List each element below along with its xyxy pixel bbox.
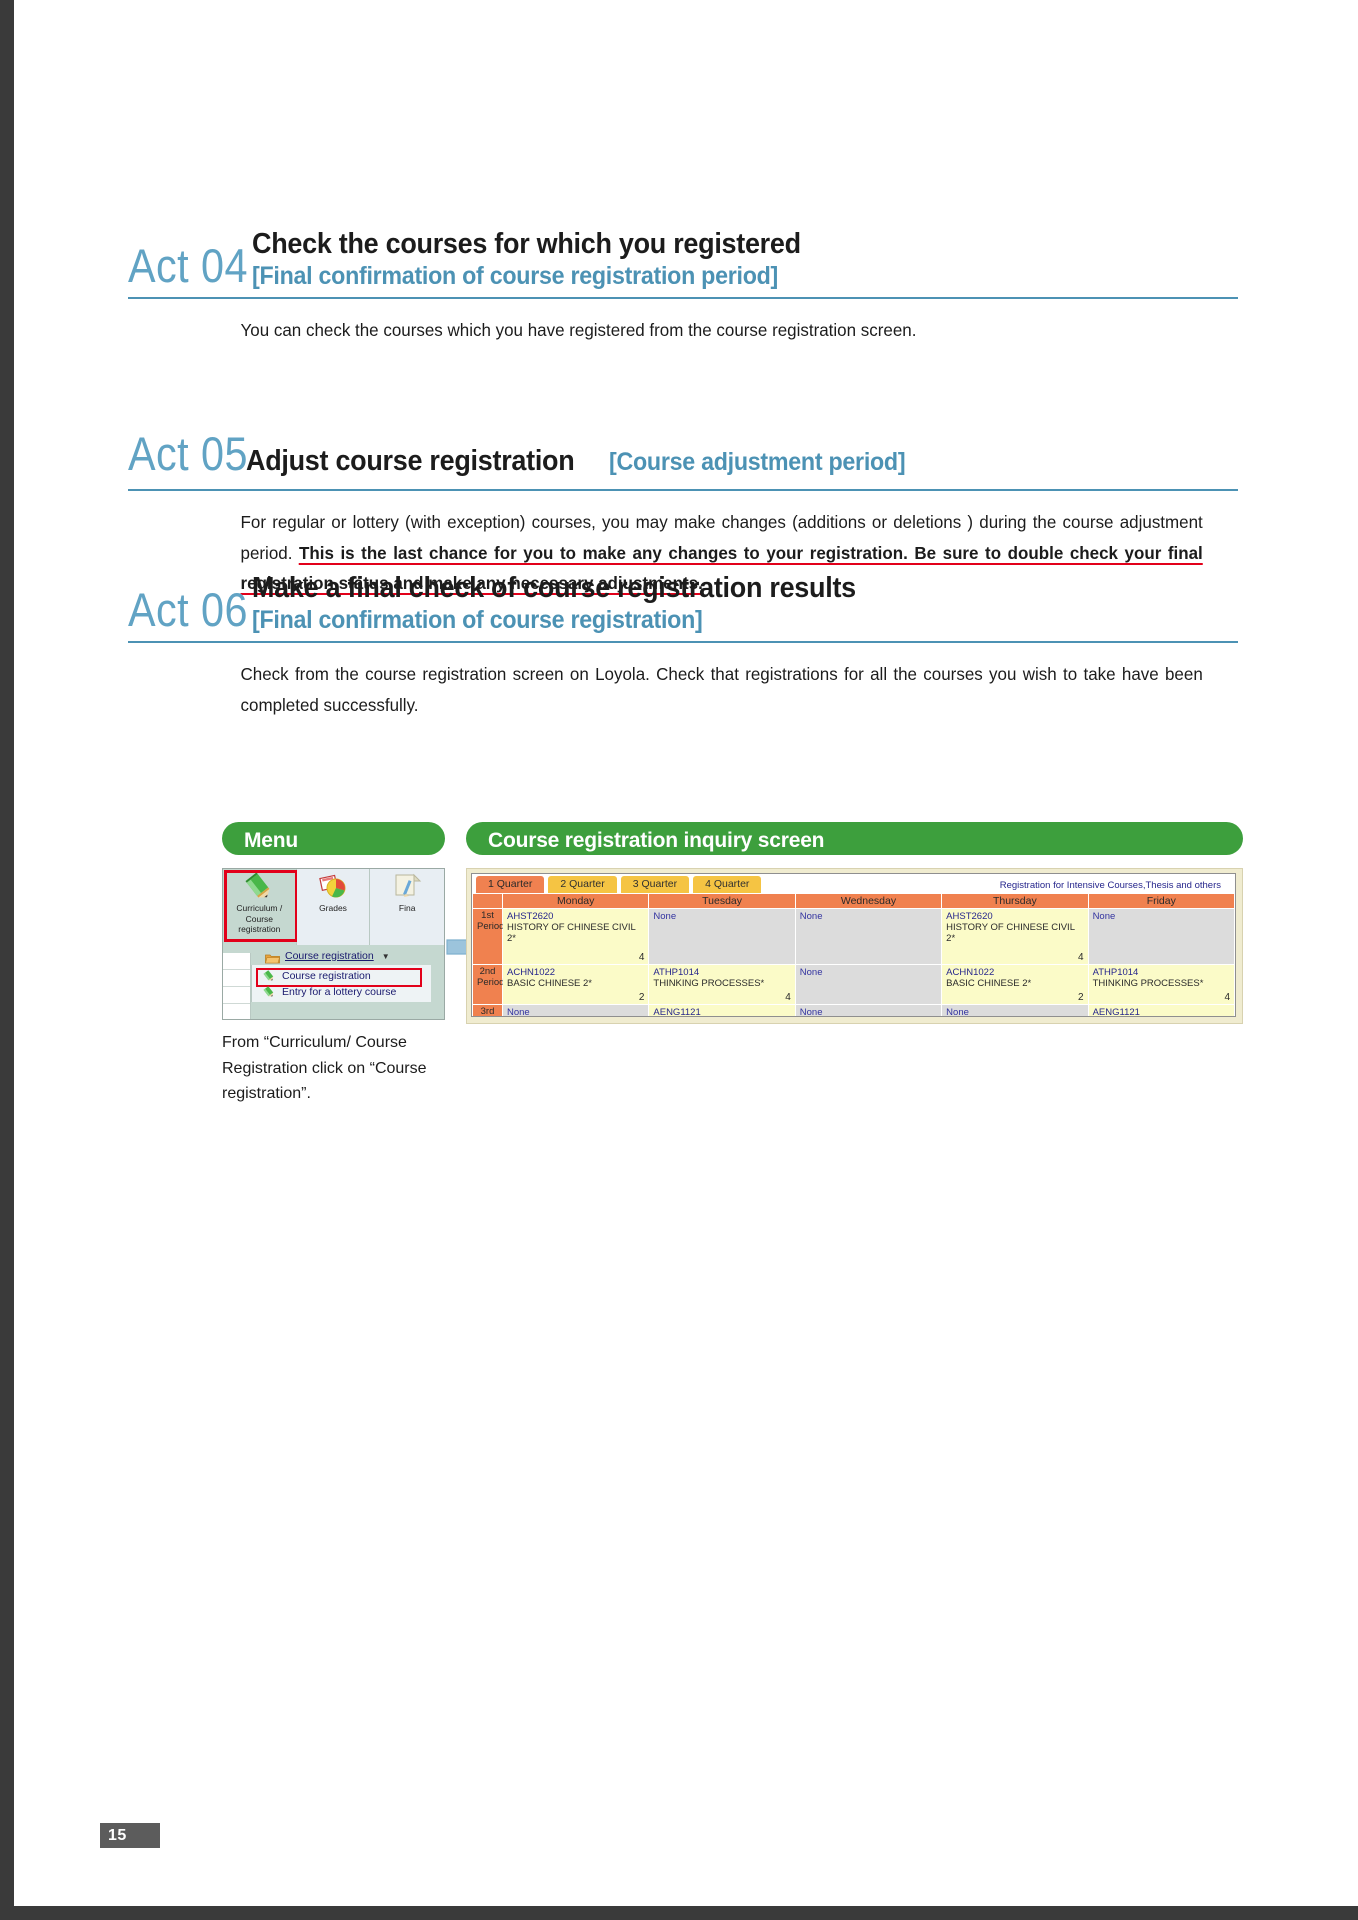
- menu-tab-grades[interactable]: Grades: [297, 869, 371, 945]
- act-04-subtitle: [Final confirmation of course registrati…: [252, 261, 1169, 291]
- course-code: None: [507, 1007, 644, 1017]
- course-code: None: [800, 967, 937, 978]
- menu-tab-label: Curriculum / Course registration: [236, 903, 282, 935]
- timetable-cell[interactable]: None: [795, 965, 941, 1005]
- course-name: BASIC CHINESE 2*: [946, 978, 1083, 989]
- act-06-label: Act 06: [128, 586, 234, 635]
- course-credits: 4: [1224, 992, 1230, 1003]
- menu-tab-strip: Curriculum / Course registration Grades: [223, 869, 444, 945]
- menu-caption: From “Curriculum/ Course Registration cl…: [222, 1030, 432, 1107]
- timetable-row: 1st Period AHST2620 HISTORY OF CHINESE C…: [473, 909, 1235, 965]
- pencil-icon: [244, 873, 274, 901]
- course-code: ATHP1014: [653, 967, 790, 978]
- timetable-cell[interactable]: ACHN1022 BASIC CHINESE 2* 2: [503, 965, 649, 1005]
- act-04-rule: [128, 297, 1238, 299]
- menu-item-course-registration[interactable]: Course registration: [252, 968, 431, 984]
- course-credits: 4: [1078, 952, 1084, 963]
- grades-icon: [318, 873, 348, 901]
- quarter-tab-4[interactable]: 4 Quarter: [693, 876, 761, 893]
- page-edge-left: [0, 0, 14, 1920]
- timetable-cell[interactable]: None: [795, 909, 941, 965]
- act-06-rule: [128, 641, 1238, 643]
- act-04-section: Act 04 Check the courses for which you r…: [128, 228, 1238, 346]
- day-header-blank: [473, 894, 503, 909]
- folder-icon: [265, 951, 280, 962]
- timetable-cell[interactable]: None: [795, 1005, 941, 1018]
- timetable-cell[interactable]: None: [1088, 909, 1234, 965]
- screen-pill-header: Course registration inquiry screen: [466, 822, 1243, 855]
- act-06-subtitle: [Final confirmation of course registrati…: [252, 605, 1169, 635]
- timetable-window: 1 Quarter 2 Quarter 3 Quarter 4 Quarter …: [471, 873, 1236, 1017]
- timetable-screenshot: 1 Quarter 2 Quarter 3 Quarter 4 Quarter …: [466, 868, 1243, 1024]
- course-code: ATHP1014: [1093, 967, 1230, 978]
- act-05-title: Adjust course registration: [246, 445, 574, 478]
- pencil-icon: [262, 986, 276, 998]
- timetable-cell[interactable]: AHST2620 HISTORY OF CHINESE CIVIL 2* 4: [942, 909, 1088, 965]
- course-code: None: [946, 1007, 1083, 1017]
- menu-tab-curriculum-course-registration[interactable]: Curriculum / Course registration: [223, 869, 297, 945]
- course-credits: 2: [1078, 992, 1084, 1003]
- timetable-cell[interactable]: None: [503, 1005, 649, 1018]
- timetable-cell[interactable]: None: [942, 1005, 1088, 1018]
- course-name: BASIC CHINESE 2*: [507, 978, 644, 989]
- timetable-row: 3rd Period None AENG1121 ENGLISH COMPOSI…: [473, 1005, 1235, 1018]
- course-name: THINKING PROCESSES*: [653, 978, 790, 989]
- act-06-body: Check from the course registration scree…: [128, 659, 1205, 720]
- act-06-heading: Act 06 Make a final check of course regi…: [128, 572, 1238, 635]
- course-name: THINKING PROCESSES*: [1093, 978, 1230, 989]
- timetable-cell[interactable]: ATHP1014 THINKING PROCESSES* 4: [1088, 965, 1234, 1005]
- course-code: ACHN1022: [946, 967, 1083, 978]
- act-04-heading: Act 04 Check the courses for which you r…: [128, 228, 1238, 291]
- act-06-section: Act 06 Make a final check of course regi…: [128, 572, 1238, 721]
- menu-item-entry-for-lottery-course[interactable]: Entry for a lottery course: [252, 984, 431, 1000]
- timetable-cell[interactable]: None: [649, 909, 795, 965]
- course-code: None: [653, 911, 790, 922]
- pencil-icon: [262, 970, 276, 982]
- course-credits: 2: [639, 992, 645, 1003]
- day-header-friday: Friday: [1088, 894, 1234, 909]
- course-credits: 4: [639, 952, 645, 963]
- period-label: 3rd Period: [473, 1005, 503, 1018]
- menu-tab-label: Grades: [319, 903, 347, 914]
- act-06-title: Make a final check of course registratio…: [252, 572, 1169, 605]
- act-05-heading: Act 05 Adjust course registration [Cours…: [128, 430, 1238, 479]
- act-05-rule: [128, 489, 1238, 491]
- period-label: 2nd Period: [473, 965, 503, 1005]
- menu-tree-submenu: Course registration: [251, 965, 431, 1002]
- menu-tab-finance[interactable]: Fina: [370, 869, 444, 945]
- timetable-cell[interactable]: AENG1121 ENGLISH COMPOSITION 2* 4: [1088, 1005, 1234, 1018]
- course-credits: 4: [785, 992, 791, 1003]
- quarter-tab-2[interactable]: 2 Quarter: [548, 876, 616, 893]
- menu-item-label[interactable]: Entry for a lottery course: [282, 986, 396, 998]
- timetable-cell[interactable]: AENG1121 ENGLISH COMPOSITION 2* 4: [649, 1005, 795, 1018]
- timetable-table: Monday Tuesday Wednesday Thursday Friday…: [472, 893, 1235, 1017]
- menu-tree-root-row[interactable]: Course registration ▼: [223, 950, 444, 962]
- menu-screenshot: Curriculum / Course registration Grades: [222, 868, 445, 1020]
- page-number: 15: [100, 1823, 160, 1848]
- course-code: None: [800, 911, 937, 922]
- period-label: 1st Period: [473, 909, 503, 965]
- day-header-tuesday: Tuesday: [649, 894, 795, 909]
- course-code: AHST2620: [946, 911, 1083, 922]
- course-code: AHST2620: [507, 911, 644, 922]
- course-code: AENG1121: [1093, 1007, 1230, 1017]
- timetable-row: 2nd Period ACHN1022 BASIC CHINESE 2* 2 A…: [473, 965, 1235, 1005]
- timetable-cell[interactable]: AHST2620 HISTORY OF CHINESE CIVIL 2* 4: [503, 909, 649, 965]
- day-header-monday: Monday: [503, 894, 649, 909]
- course-code: None: [800, 1007, 937, 1017]
- day-header-thursday: Thursday: [942, 894, 1088, 909]
- course-code: ACHN1022: [507, 967, 644, 978]
- menu-pill-header: Menu: [222, 822, 445, 855]
- finance-icon: [392, 873, 422, 901]
- course-name: HISTORY OF CHINESE CIVIL 2*: [507, 922, 644, 944]
- menu-tree: Course registration ▼: [223, 945, 444, 1020]
- chevron-down-icon[interactable]: ▼: [382, 952, 390, 961]
- act-04-body: You can check the courses which you have…: [128, 315, 1205, 346]
- menu-item-label[interactable]: Course registration: [282, 970, 371, 982]
- menu-tab-label: Fina: [399, 903, 416, 914]
- act-04-label: Act 04: [128, 242, 234, 291]
- page-content: Act 04 Check the courses for which you r…: [128, 0, 1238, 1920]
- timetable-cell[interactable]: ATHP1014 THINKING PROCESSES* 4: [649, 965, 795, 1005]
- intensive-courses-note[interactable]: Registration for Intensive Courses,Thesi…: [1000, 880, 1221, 893]
- quarter-tab-strip: 1 Quarter 2 Quarter 3 Quarter 4 Quarter …: [472, 874, 1235, 893]
- act-05-label: Act 05: [128, 430, 232, 479]
- timetable-header-row: Monday Tuesday Wednesday Thursday Friday: [473, 894, 1235, 909]
- quarter-tab-3[interactable]: 3 Quarter: [621, 876, 689, 893]
- course-code: None: [1093, 911, 1230, 922]
- act-05-subtitle: [Course adjustment period]: [609, 448, 905, 477]
- course-name: HISTORY OF CHINESE CIVIL 2*: [946, 922, 1083, 944]
- act-04-title: Check the courses for which you register…: [252, 228, 1169, 261]
- course-code: AENG1121: [653, 1007, 790, 1017]
- quarter-tab-1[interactable]: 1 Quarter: [476, 876, 544, 893]
- menu-tree-root-label[interactable]: Course registration: [285, 950, 374, 962]
- day-header-wednesday: Wednesday: [795, 894, 941, 909]
- timetable-cell[interactable]: ACHN1022 BASIC CHINESE 2* 2: [942, 965, 1088, 1005]
